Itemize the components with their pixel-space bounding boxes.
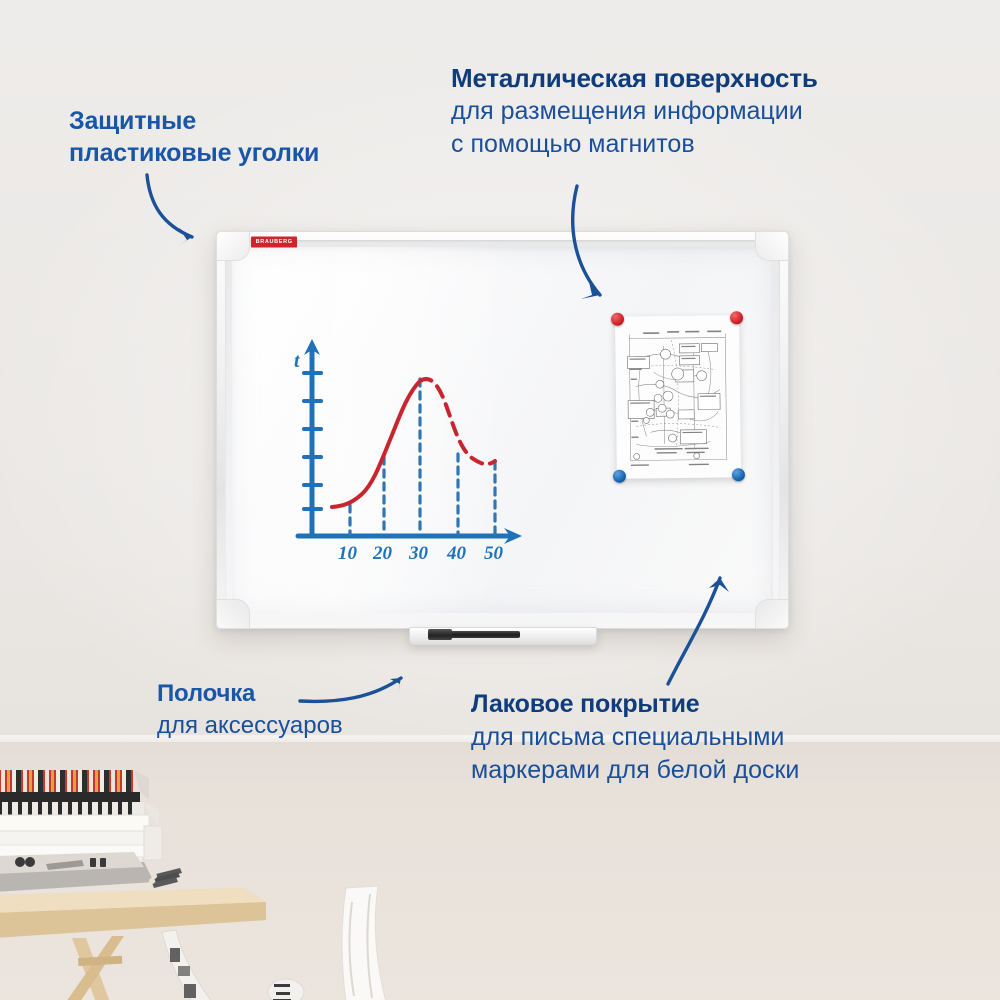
- pens: [147, 868, 182, 889]
- callout-shelf-head: Полочка: [157, 678, 437, 710]
- plastic-corner-bottom-right: [755, 599, 789, 629]
- callout-metal-sub-1: для размещения информации: [451, 95, 931, 128]
- callout-coating-sub-2: маркерами для белой доски: [471, 754, 941, 787]
- x-axis-tick-labels: 10 20 30 40 50: [338, 543, 504, 564]
- callout-metal-sub-2: с помощью магнитов: [451, 128, 931, 161]
- desk-cloth: [0, 852, 154, 892]
- chart-curve-solid: [332, 381, 420, 507]
- callout-coating-sub-1: для письма специальными: [471, 721, 941, 754]
- magnet-held-paper[interactable]: [615, 315, 741, 479]
- callout-coating-head: Лаковое покрытие: [471, 688, 941, 721]
- books-stack: [0, 770, 162, 868]
- desk-scene: [0, 752, 414, 1000]
- flowchart-diagram: [615, 315, 741, 479]
- callout-lacquer-coating: Лаковое покрытие для письма специальными…: [471, 688, 941, 787]
- pen-tray[interactable]: [409, 627, 597, 645]
- callout-metal-surface: Металлическая поверхность для размещения…: [451, 62, 931, 161]
- callout-shelf: Полочка для аксессуаров: [157, 678, 437, 742]
- handdrawn-chart: t 10 20 30 40: [290, 331, 540, 566]
- magnet-red-top-left[interactable]: [611, 313, 624, 326]
- brand-logo-label: BRAUBERG: [251, 236, 297, 247]
- whiteboard[interactable]: t 10 20 30 40: [216, 231, 789, 629]
- x-tick-label: 20: [372, 543, 393, 564]
- plastic-corner-bottom-left: [216, 599, 250, 629]
- callout-shelf-sub: для аксессуаров: [157, 710, 437, 742]
- board-writing-surface[interactable]: t 10 20 30 40: [232, 247, 773, 613]
- x-tick-label: 50: [484, 543, 504, 564]
- plastic-corner-top-right: [755, 231, 789, 261]
- x-tick-label: 10: [338, 543, 358, 564]
- marker-cap[interactable]: [428, 629, 452, 640]
- magnet-red-top-right[interactable]: [730, 311, 743, 324]
- magnet-blue-bottom-left[interactable]: [613, 470, 626, 483]
- magnet-blue-bottom-right[interactable]: [732, 468, 745, 481]
- chart-curve-dashed: [420, 379, 495, 464]
- x-tick-label: 30: [408, 543, 429, 564]
- callout-metal-head: Металлическая поверхность: [451, 62, 931, 95]
- callout-corners-head: Защитные: [69, 105, 429, 137]
- callout-corners-sub: пластиковые уголки: [69, 137, 429, 169]
- x-tick-label: 40: [446, 543, 467, 564]
- photo-scene: t 10 20 30 40: [0, 0, 1000, 1000]
- y-axis-label: t: [294, 350, 301, 372]
- plastic-corner-top-left: [216, 231, 250, 261]
- callout-plastic-corners: Защитные пластиковые уголки: [69, 105, 429, 169]
